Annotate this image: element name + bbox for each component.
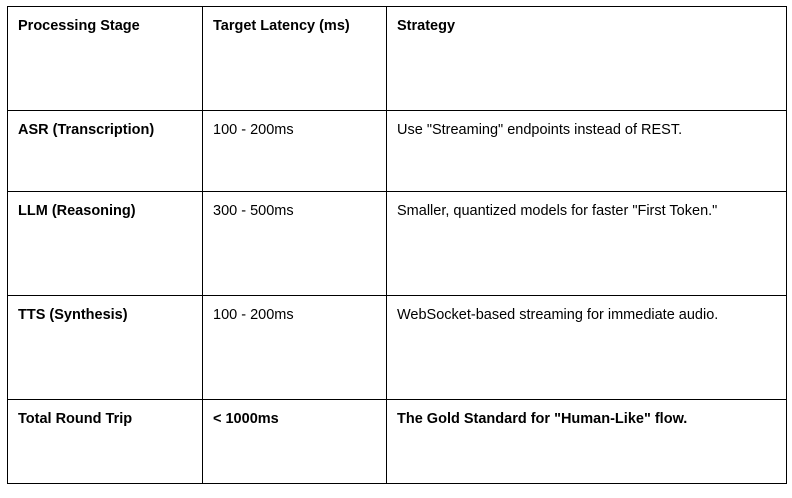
table-row: LLM (Reasoning) 300 - 500ms Smaller, qua… — [8, 192, 787, 296]
header-cell-strategy: Strategy — [387, 7, 787, 111]
table-row-total: Total Round Trip < 1000ms The Gold Stand… — [8, 400, 787, 484]
cell-stage: ASR (Transcription) — [8, 111, 203, 192]
latency-table: Processing Stage Target Latency (ms) Str… — [7, 6, 787, 484]
header-cell-target-latency: Target Latency (ms) — [203, 7, 387, 111]
cell-stage: LLM (Reasoning) — [8, 192, 203, 296]
cell-latency: 100 - 200ms — [203, 296, 387, 400]
cell-strategy: WebSocket-based streaming for immediate … — [387, 296, 787, 400]
cell-latency: 100 - 200ms — [203, 111, 387, 192]
latency-table-container: Processing Stage Target Latency (ms) Str… — [7, 6, 786, 490]
table-header-row: Processing Stage Target Latency (ms) Str… — [8, 7, 787, 111]
cell-latency: 300 - 500ms — [203, 192, 387, 296]
header-cell-processing-stage: Processing Stage — [8, 7, 203, 111]
cell-strategy: The Gold Standard for "Human-Like" flow. — [387, 400, 787, 484]
cell-latency: < 1000ms — [203, 400, 387, 484]
cell-strategy: Smaller, quantized models for faster "Fi… — [387, 192, 787, 296]
table-row: TTS (Synthesis) 100 - 200ms WebSocket-ba… — [8, 296, 787, 400]
table-row: ASR (Transcription) 100 - 200ms Use "Str… — [8, 111, 787, 192]
cell-strategy: Use "Streaming" endpoints instead of RES… — [387, 111, 787, 192]
cell-stage: TTS (Synthesis) — [8, 296, 203, 400]
cell-stage: Total Round Trip — [8, 400, 203, 484]
